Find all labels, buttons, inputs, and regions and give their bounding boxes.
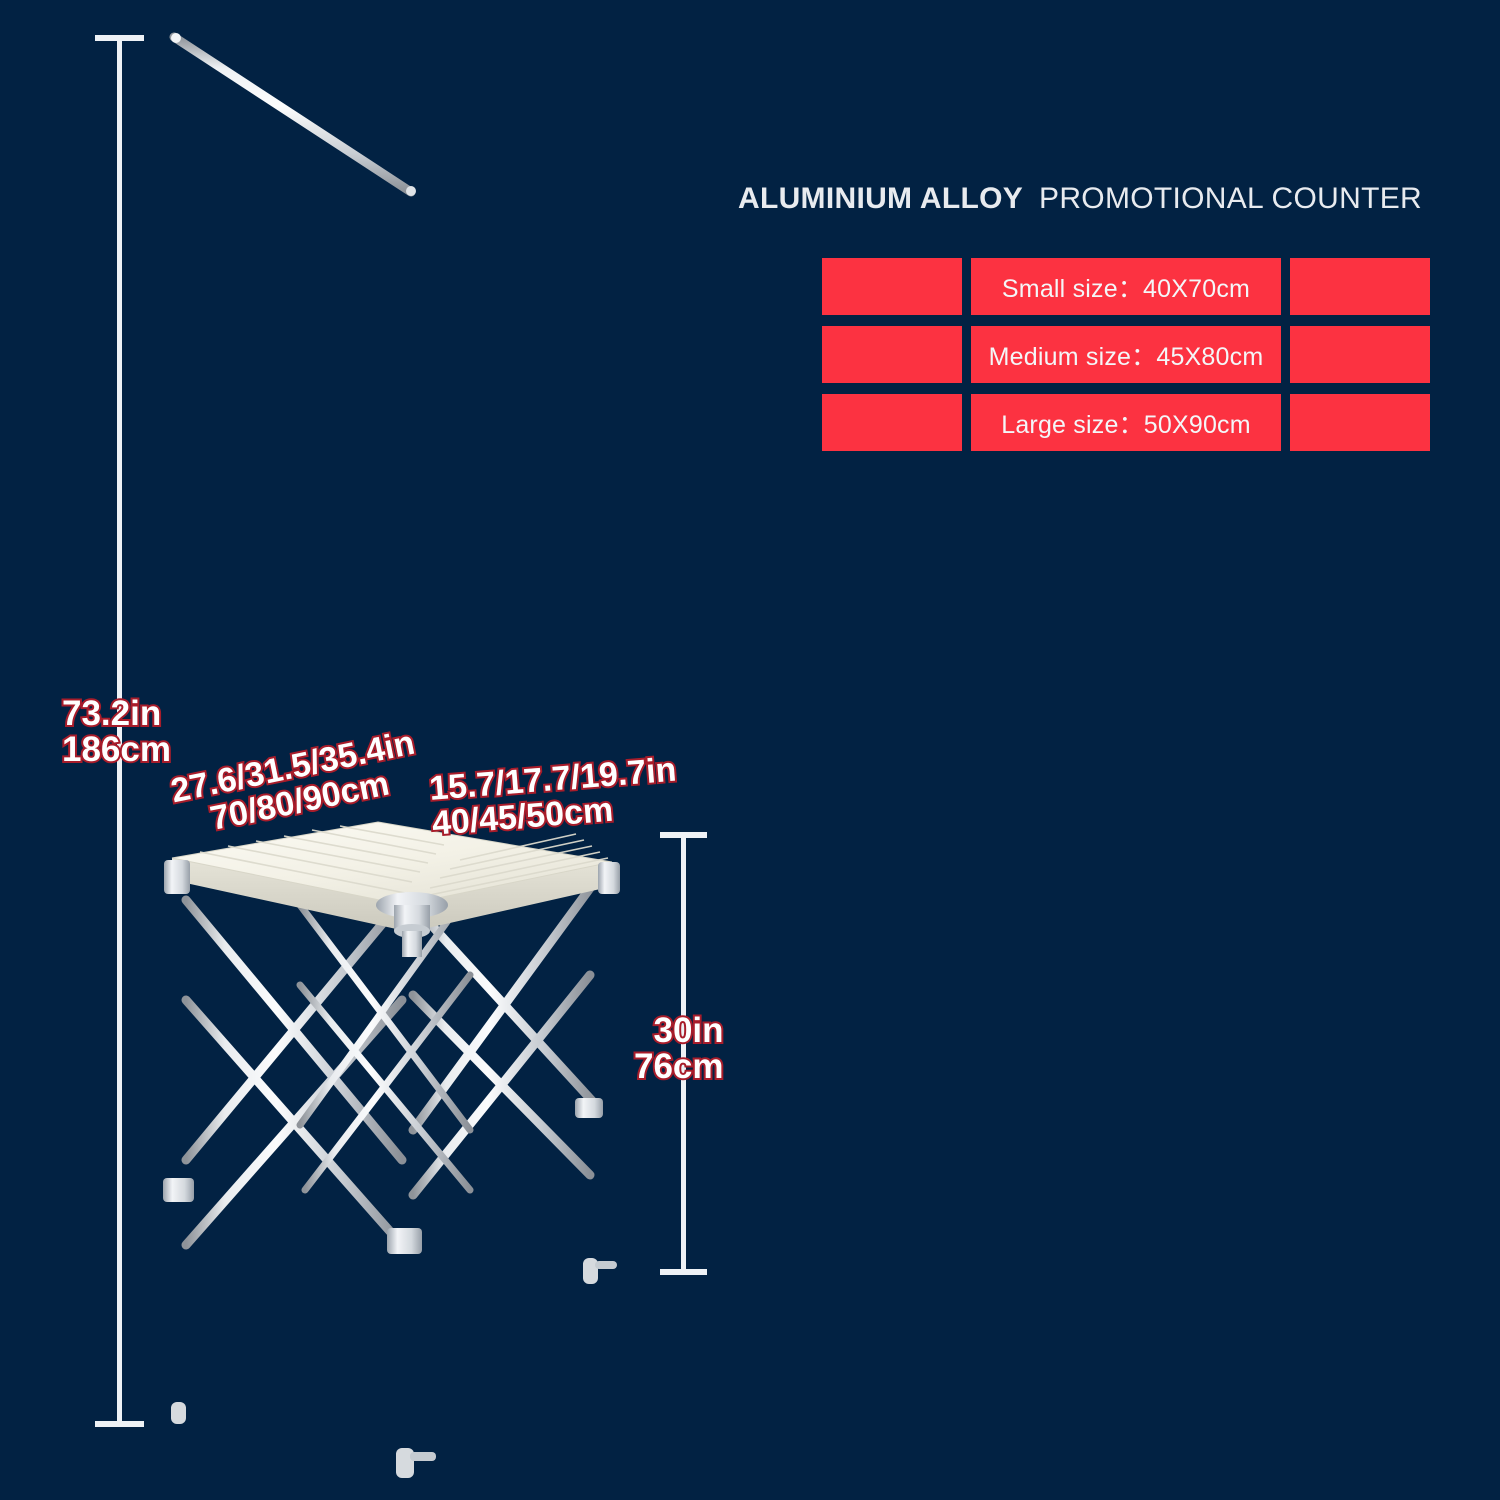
size-row-right-block bbox=[1290, 258, 1430, 315]
table-height-cap-top bbox=[660, 832, 707, 838]
adjustable-feet bbox=[171, 1258, 617, 1478]
scissor-leg-frame bbox=[186, 880, 596, 1245]
size-label-small: Small size：40X70cm bbox=[971, 258, 1281, 315]
size-label-large: Large size：50X90cm bbox=[971, 394, 1281, 451]
size-row-left-block bbox=[822, 258, 962, 315]
size-row-right-block bbox=[1290, 394, 1430, 451]
infographic-canvas: 73.2in 186cm 27.6/31.5/35.4in 70/80/90cm… bbox=[0, 0, 1500, 1500]
table-height-label: 30in 76cm bbox=[634, 1013, 724, 1084]
product-illustration bbox=[0, 0, 1500, 1500]
table-legs bbox=[163, 872, 617, 1478]
size-label-medium: Medium size：45X80cm bbox=[971, 326, 1281, 383]
size-row-medium: Medium size：45X80cm bbox=[822, 326, 1430, 383]
title-light-part: PROMOTIONAL COUNTER bbox=[1039, 182, 1422, 216]
size-row-right-block bbox=[1290, 326, 1430, 383]
total-height-cap-bottom bbox=[95, 1421, 144, 1427]
size-options-table: Small size：40X70cm Medium size：45X80cm L… bbox=[822, 258, 1430, 451]
size-row-large: Large size：50X90cm bbox=[822, 394, 1430, 451]
table-height-inches: 30in bbox=[634, 1013, 724, 1049]
page-title: ALUMINIUM ALLOY PROMOTIONAL COUNTER bbox=[738, 182, 1422, 216]
total-height-label: 73.2in 186cm bbox=[62, 696, 171, 767]
size-row-left-block bbox=[822, 394, 962, 451]
total-height-inches: 73.2in bbox=[62, 696, 171, 732]
total-height-cm: 186cm bbox=[62, 732, 171, 768]
size-row-small: Small size：40X70cm bbox=[822, 258, 1430, 315]
total-height-cap-top bbox=[95, 35, 144, 41]
table-height-cm: 76cm bbox=[634, 1049, 724, 1085]
table-height-cap-bottom bbox=[660, 1269, 707, 1275]
size-row-left-block bbox=[822, 326, 962, 383]
title-bold-part: ALUMINIUM ALLOY bbox=[738, 182, 1023, 216]
